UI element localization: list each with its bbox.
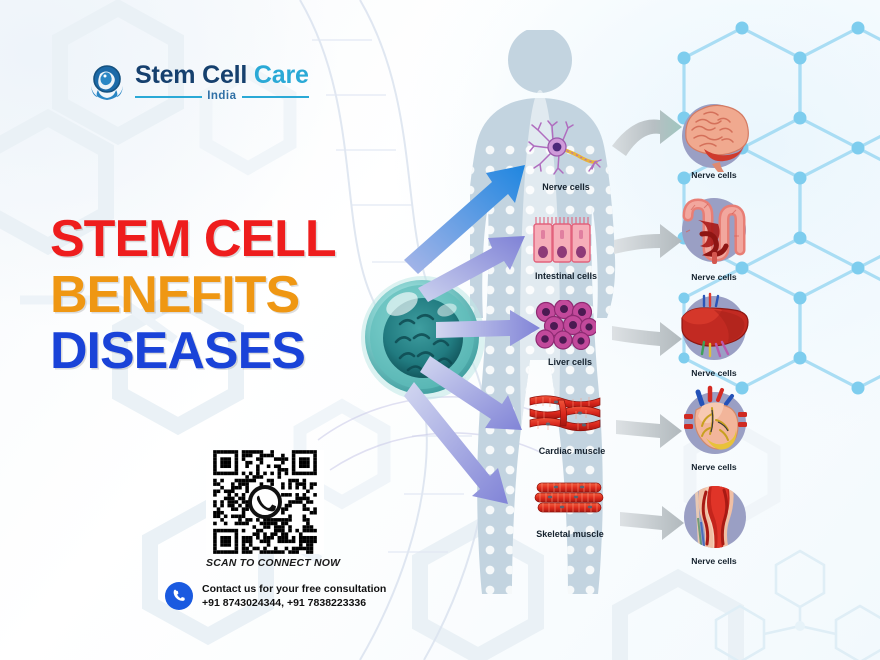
qr-code[interactable] [206, 450, 324, 554]
organ-label-3: Nerve cells [691, 368, 736, 378]
organ-label-4: Nerve cells [691, 462, 736, 472]
brain-icon [674, 94, 754, 174]
heart-icon [676, 384, 754, 462]
page-title: STEM CELL BENEFITS DISEASES [50, 214, 336, 377]
qr-block[interactable]: SCAN TO CONNECT NOW [206, 450, 324, 569]
qr-caption: SCAN TO CONNECT NOW [206, 557, 324, 569]
organ-label-2: Nerve cells [691, 272, 736, 282]
phone-icon[interactable] [165, 582, 193, 610]
leg-muscle-icon [676, 478, 754, 556]
intestine-icon [674, 190, 754, 270]
hepatocyte-cluster-icon [534, 300, 596, 350]
logo-word-stem: Stem [135, 61, 195, 89]
embryo-in-hands-icon [86, 62, 128, 104]
contact-phone-numbers[interactable]: +91 8743024344, +91 7838223336 [202, 596, 386, 610]
title-line-1: STEM CELL [50, 214, 336, 265]
contact-block[interactable]: Contact us for your free consultation +9… [165, 582, 386, 610]
neuron-icon [528, 120, 602, 182]
cell-label-intestinal: Intestinal cells [535, 271, 597, 281]
organ-label-1: Nerve cells [691, 170, 736, 180]
stem-cell-graphic [348, 262, 498, 412]
cell-label-cardiac: Cardiac muscle [539, 446, 606, 456]
cell-label-nerve: Nerve cells [542, 182, 590, 192]
logo-rule-right [242, 96, 309, 98]
cell-label-liver: Liver cells [548, 357, 592, 367]
title-line-2: BENEFITS [50, 270, 336, 321]
skeletal-fiber-icon [534, 480, 606, 516]
poster-canvas: Nerve cells Intestinal cells [0, 0, 880, 660]
logo-word-cell: Cell [202, 61, 247, 89]
liver-icon [674, 288, 754, 368]
logo-word-india: India [207, 91, 236, 103]
organ-label-5: Nerve cells [691, 556, 736, 566]
columnar-epithelium-icon [532, 216, 592, 266]
brand-logo[interactable]: Stem Cell Care India [86, 62, 309, 104]
cardiac-fiber-icon [528, 392, 602, 436]
whatsapp-icon [250, 487, 280, 517]
logo-rule-left [135, 96, 202, 98]
cell-label-skeletal: Skeletal muscle [536, 529, 604, 539]
logo-word-care: Care [254, 61, 309, 89]
contact-headline: Contact us for your free consultation [202, 582, 386, 596]
title-line-3: DISEASES [50, 326, 336, 377]
